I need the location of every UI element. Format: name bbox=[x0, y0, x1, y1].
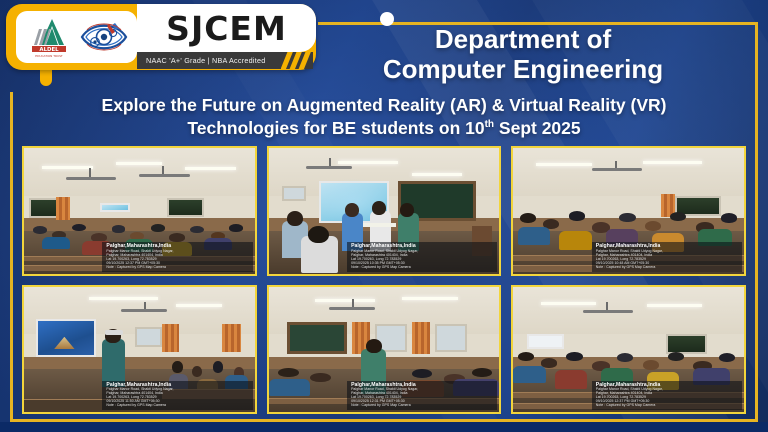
frame-border-left bbox=[10, 92, 13, 420]
watermark-note: Note : Captured by GPS Map Camera bbox=[351, 404, 494, 408]
event-title-ordinal: th bbox=[485, 119, 494, 130]
photo-grid: GPS Map Camera Palghar,Maharashtra,India… bbox=[22, 146, 746, 414]
department-line-1: Department of bbox=[308, 24, 738, 54]
sjcem-wordmark-panel: SJCEM bbox=[137, 4, 316, 52]
gps-watermark: GPS Map Camera Palghar,Maharashtra,India… bbox=[347, 242, 497, 271]
svg-text:ALDEL: ALDEL bbox=[39, 47, 59, 53]
sjcem-wordmark: SJCEM bbox=[166, 9, 287, 48]
svg-text:EDUCATION TRUST: EDUCATION TRUST bbox=[35, 54, 63, 58]
bottom-strip bbox=[0, 422, 768, 432]
department-line-2: Computer Engineering bbox=[308, 54, 738, 84]
photo-tile[interactable]: GPS Map Camera Palghar,Maharashtra,India… bbox=[511, 285, 746, 415]
logo-white-panel: ALDEL EDUCATION TRUST bbox=[16, 11, 137, 63]
watermark-note: Note : Captured by GPS Map Camera bbox=[106, 404, 249, 408]
vr-headset-icon bbox=[105, 330, 123, 335]
accreditation-text: NAAC 'A+' Grade | NBA Accredited bbox=[146, 56, 265, 65]
gps-watermark: GPS Map Camera Palghar,Maharashtra,India… bbox=[347, 381, 497, 410]
gps-watermark: GPS Map Camera Palghar,Maharashtra,India… bbox=[592, 381, 742, 410]
photo-tile[interactable]: GPS Map Camera Palghar,Maharashtra,India… bbox=[22, 146, 257, 276]
event-title-line-1: Explore the Future on Augmented Reality … bbox=[24, 94, 744, 117]
event-title-line-2-pre: Technologies for BE students on 10 bbox=[187, 118, 484, 138]
gps-watermark: GPS Map Camera Palghar,Maharashtra,India… bbox=[592, 242, 742, 271]
gps-watermark: GPS Map Camera Palghar,Maharashtra,India… bbox=[102, 381, 252, 410]
aldel-education-trust-logo: ALDEL EDUCATION TRUST bbox=[23, 14, 75, 60]
photo-tile[interactable]: GPS Map Camera Palghar,Maharashtra,India… bbox=[267, 146, 502, 276]
gps-watermark: GPS Map Camera Palghar,Maharashtra,India… bbox=[102, 242, 252, 271]
event-title-line-2-post: Sept 2025 bbox=[494, 118, 581, 138]
accreditation-strip: NAAC 'A+' Grade | NBA Accredited bbox=[137, 52, 313, 69]
photo-tile[interactable]: GPS Map Camera Palghar,Maharashtra,India… bbox=[511, 146, 746, 276]
department-heading: Department of Computer Engineering bbox=[308, 24, 738, 84]
swoosh-icon bbox=[281, 52, 313, 69]
watermark-note: Note : Captured by GPS Map Camera bbox=[106, 266, 249, 270]
sjcem-college-emblem bbox=[78, 14, 130, 60]
watermark-note: Note : Captured by GPS Map Camera bbox=[596, 404, 739, 408]
photo-tile[interactable]: GPS Map Camera Palghar,Maharashtra,India… bbox=[267, 285, 502, 415]
watermark-note: Note : Captured by GPS Map Camera bbox=[596, 266, 739, 270]
event-title-line-2: Technologies for BE students on 10th Sep… bbox=[24, 117, 744, 140]
event-title: Explore the Future on Augmented Reality … bbox=[0, 94, 768, 140]
photo-tile[interactable]: GPS Map Camera Palghar,Maharashtra,India… bbox=[22, 285, 257, 415]
frame-border-right bbox=[755, 22, 758, 420]
institute-logo-lockup: ALDEL EDUCATION TRUST SJ bbox=[6, 4, 316, 70]
watermark-note: Note : Captured by GPS Map Camera bbox=[351, 266, 494, 270]
